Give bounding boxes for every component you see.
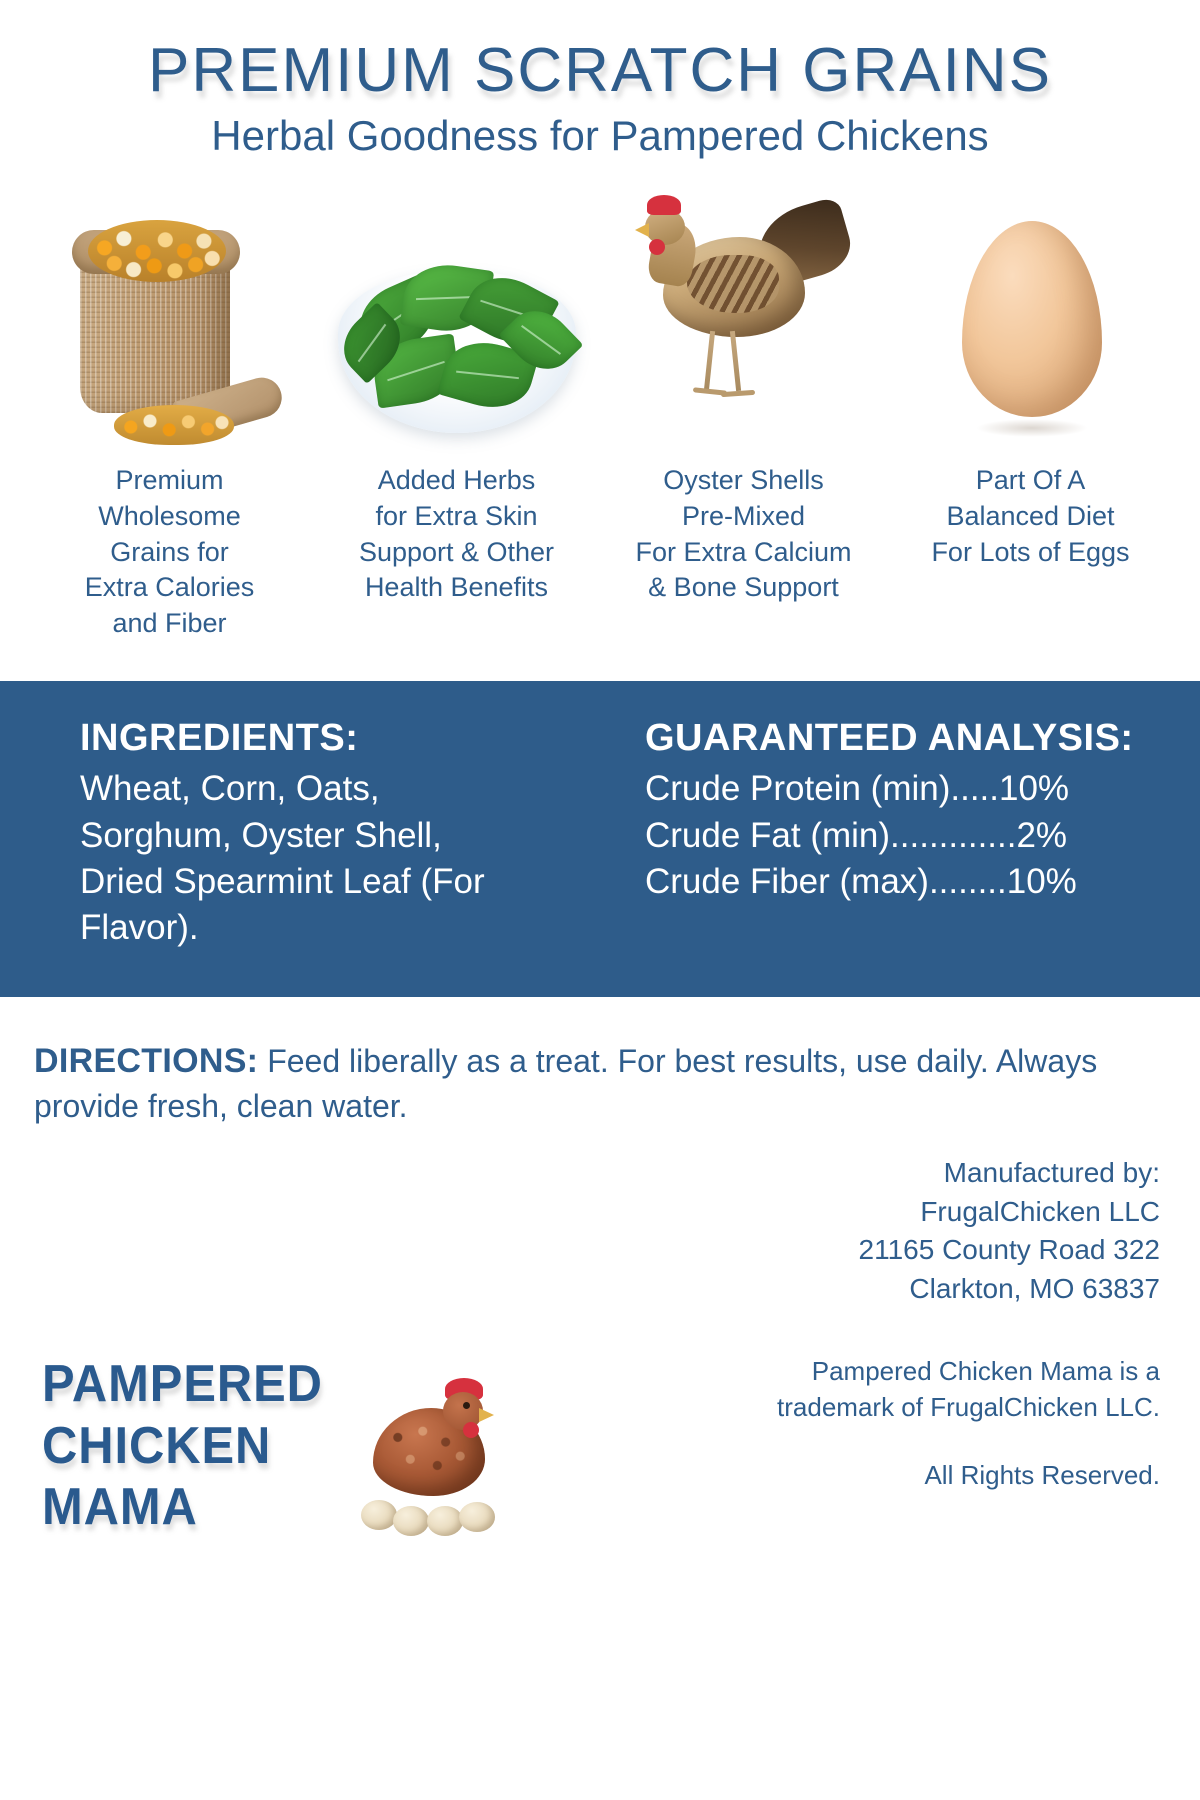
brand-line-3: MAMA xyxy=(42,1477,323,1538)
feature-caption-oyster-shells: Oyster Shells Pre-Mixed For Extra Calciu… xyxy=(635,463,851,606)
feature-caption-eggs: Part Of A Balanced Diet For Lots of Eggs xyxy=(931,463,1129,570)
brand-line-2: CHICKEN xyxy=(42,1416,323,1477)
feature-art-grains xyxy=(26,195,313,445)
label-header: PREMIUM SCRATCH GRAINS Herbal Goodness f… xyxy=(0,0,1200,159)
brand-line-1: PAMPERED xyxy=(42,1354,323,1415)
guaranteed-analysis-section: GUARANTEED ANALYSIS: Crude Protein (min)… xyxy=(635,717,1200,951)
directions-label: DIRECTIONS: xyxy=(34,1042,258,1080)
product-subtitle: Herbal Goodness for Pampered Chickens xyxy=(0,113,1200,159)
analysis-row: Crude Protein (min).....10% xyxy=(645,766,1200,812)
hen-icon xyxy=(629,197,859,445)
brand-lockup: PAMPERED CHICKEN MAMA xyxy=(42,1354,509,1538)
ingredients-section: INGREDIENTS: Wheat, Corn, Oats, Sorghum,… xyxy=(0,717,635,951)
mint-leaves-bowl-icon xyxy=(332,235,582,445)
feature-item-eggs: Part Of A Balanced Diet For Lots of Eggs xyxy=(887,195,1174,641)
page-title: PREMIUM SCRATCH GRAINS xyxy=(0,38,1200,103)
manufacturer-block: Manufactured by: FrugalChicken LLC 21165… xyxy=(34,1154,1170,1309)
feature-item-herbs: Added Herbs for Extra Skin Support & Oth… xyxy=(313,195,600,641)
analysis-row: Crude Fat (min).............2% xyxy=(645,813,1200,859)
analysis-row: Crude Fiber (max)........10% xyxy=(645,859,1200,905)
burlap-sack-of-corn-icon xyxy=(62,210,277,445)
label-footer: Manufactured by: FrugalChicken LLC 21165… xyxy=(0,1154,1200,1574)
guaranteed-analysis-list: Crude Protein (min).....10% Crude Fat (m… xyxy=(645,766,1200,905)
feature-art-hen xyxy=(600,195,887,445)
brown-egg-icon xyxy=(936,205,1126,445)
ingredients-text: Wheat, Corn, Oats, Sorghum, Oyster Shell… xyxy=(80,766,510,951)
directions-section: DIRECTIONS: Feed liberally as a treat. F… xyxy=(0,997,1200,1128)
feature-row: Premium Wholesome Grains for Extra Calor… xyxy=(0,195,1200,641)
feature-caption-grains: Premium Wholesome Grains for Extra Calor… xyxy=(85,463,255,641)
guaranteed-analysis-heading: GUARANTEED ANALYSIS: xyxy=(645,717,1200,760)
feature-item-oyster-shells: Oyster Shells Pre-Mixed For Extra Calciu… xyxy=(600,195,887,641)
watercolor-hen-on-nest-icon xyxy=(359,1388,509,1538)
feature-art-egg xyxy=(887,195,1174,445)
ingredients-heading: INGREDIENTS: xyxy=(80,717,635,760)
nutrition-panel: INGREDIENTS: Wheat, Corn, Oats, Sorghum,… xyxy=(0,681,1200,997)
feature-caption-herbs: Added Herbs for Extra Skin Support & Oth… xyxy=(359,463,554,606)
feature-art-herbs xyxy=(313,195,600,445)
feature-item-grains: Premium Wholesome Grains for Extra Calor… xyxy=(26,195,313,641)
brand-wordmark: PAMPERED CHICKEN MAMA xyxy=(42,1354,323,1538)
